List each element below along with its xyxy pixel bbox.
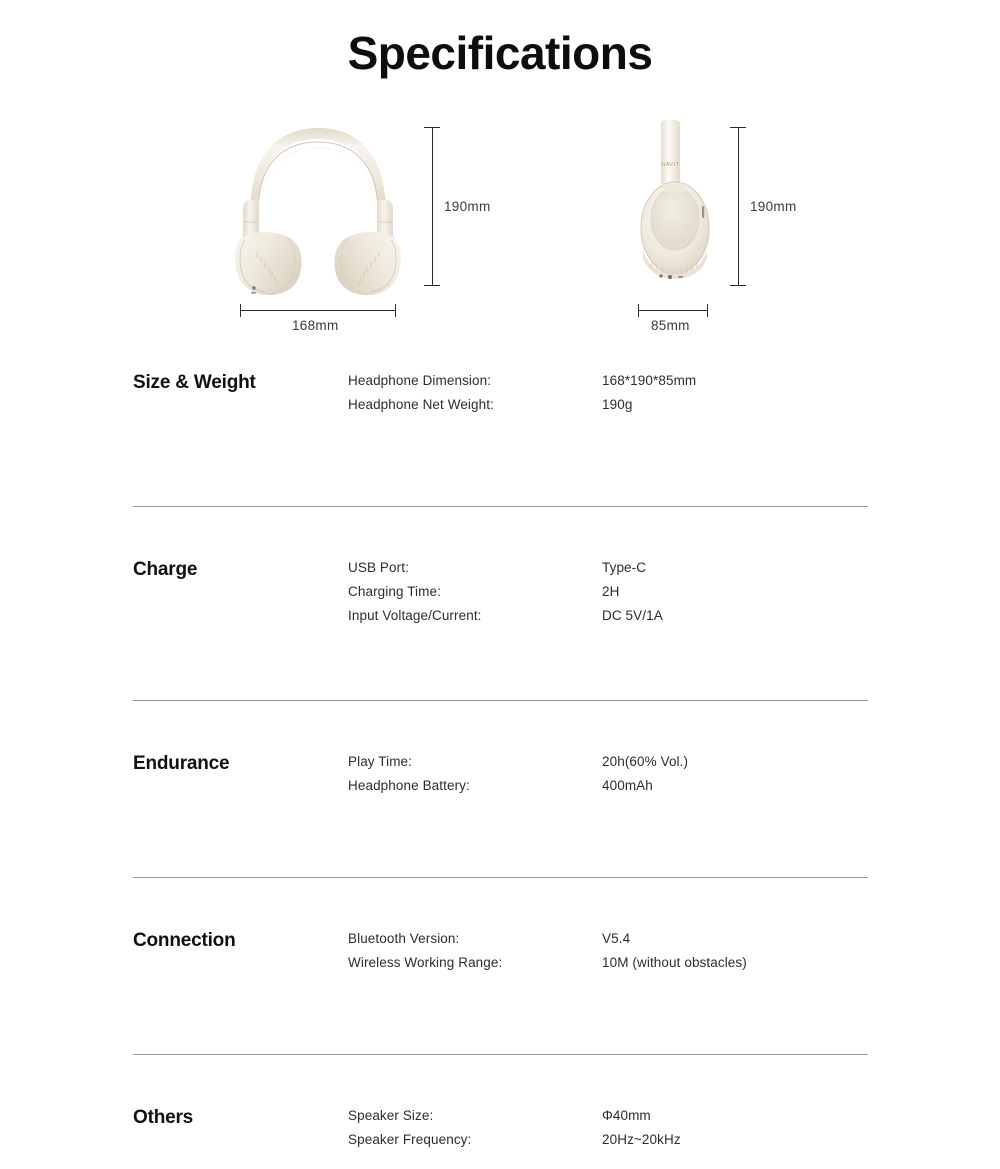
headphone-side-view-image: HAVIT xyxy=(630,118,722,298)
side-width-dim-line xyxy=(638,310,708,311)
spec-row: Headphone Battery:400mAh xyxy=(348,778,1000,802)
side-width-dim-cap-right xyxy=(707,304,708,317)
spec-row-group: Bluetooth Version:V5.4Wireless Working R… xyxy=(348,930,1000,979)
spec-section-heading: Connection xyxy=(133,930,236,952)
spec-row-key: Wireless Working Range: xyxy=(348,955,602,970)
spec-row: Speaker Frequency:20Hz~20kHz xyxy=(348,1132,1000,1156)
spec-row-key: Headphone Net Weight: xyxy=(348,397,602,412)
spec-section: ConnectionBluetooth Version:V5.4Wireless… xyxy=(0,930,1000,1107)
spec-row: Charging Time:2H xyxy=(348,584,1000,608)
spec-row-value: 20h(60% Vol.) xyxy=(602,754,688,769)
spec-row-key: Speaker Size: xyxy=(348,1108,602,1123)
spec-section-body: EndurancePlay Time:20h(60% Vol.)Headphon… xyxy=(0,753,1000,815)
spec-section: Size & WeightHeadphone Dimension:168*190… xyxy=(0,372,1000,559)
spec-row-value: DC 5V/1A xyxy=(602,608,663,623)
spec-row-value: 190g xyxy=(602,397,632,412)
spec-row: Input Voltage/Current:DC 5V/1A xyxy=(348,608,1000,632)
side-height-dim-line xyxy=(738,127,739,286)
spec-section: ChargeUSB Port:Type-CCharging Time:2HInp… xyxy=(0,559,1000,753)
spec-divider-spacer xyxy=(0,507,1000,559)
front-width-dim-label: 168mm xyxy=(292,318,339,333)
front-height-dim-line xyxy=(432,127,433,286)
spec-row-group: USB Port:Type-CCharging Time:2HInput Vol… xyxy=(348,559,1000,632)
spec-section-spacer xyxy=(0,434,1000,506)
spec-section-spacer xyxy=(0,992,1000,1054)
front-height-dim-label: 190mm xyxy=(444,199,491,214)
spec-row-key: Headphone Battery: xyxy=(348,778,602,793)
spec-row-value: 400mAh xyxy=(602,778,653,793)
spec-row-value: Φ40mm xyxy=(602,1108,651,1123)
spec-row-group: Play Time:20h(60% Vol.)Headphone Battery… xyxy=(348,753,1000,802)
spec-row: USB Port:Type-C xyxy=(348,560,1000,584)
spec-row: Wireless Working Range:10M (without obst… xyxy=(348,955,1000,979)
spec-row-key: Input Voltage/Current: xyxy=(348,608,602,623)
spec-row: Speaker Size:Φ40mm xyxy=(348,1108,1000,1132)
spec-row-key: Bluetooth Version: xyxy=(348,931,602,946)
spec-section: EndurancePlay Time:20h(60% Vol.)Headphon… xyxy=(0,753,1000,930)
spec-row: Bluetooth Version:V5.4 xyxy=(348,931,1000,955)
spec-row-value: 168*190*85mm xyxy=(602,373,696,388)
spec-section-body: Size & WeightHeadphone Dimension:168*190… xyxy=(0,372,1000,434)
specifications-table: Size & WeightHeadphone Dimension:168*190… xyxy=(0,372,1000,1169)
spec-row-group: Headphone Dimension:168*190*85mmHeadphon… xyxy=(348,372,1000,421)
spec-row: Headphone Net Weight:190g xyxy=(348,397,1000,421)
spec-row: Play Time:20h(60% Vol.) xyxy=(348,754,1000,778)
spec-row-value: 20Hz~20kHz xyxy=(602,1132,681,1147)
spec-row-key: Headphone Dimension: xyxy=(348,373,602,388)
spec-divider-spacer xyxy=(0,701,1000,753)
spec-row-key: USB Port: xyxy=(348,560,602,575)
spec-row-value: Type-C xyxy=(602,560,646,575)
spec-section-heading: Charge xyxy=(133,559,197,581)
spec-row-group: Speaker Size:Φ40mmSpeaker Frequency:20Hz… xyxy=(348,1107,1000,1156)
spec-row: Headphone Dimension:168*190*85mm xyxy=(348,373,1000,397)
product-diagram-area: HAVIT 190mm xyxy=(0,110,1000,350)
side-width-dim-label: 85mm xyxy=(651,318,690,333)
spec-row-key: Play Time: xyxy=(348,754,602,769)
spec-section-body: OthersSpeaker Size:Φ40mmSpeaker Frequenc… xyxy=(0,1107,1000,1169)
page-title: Specifications xyxy=(0,26,1000,80)
headphone-front-view-image xyxy=(232,118,404,298)
spec-row-value: V5.4 xyxy=(602,931,630,946)
spec-divider-spacer xyxy=(0,878,1000,930)
spec-row-key: Speaker Frequency: xyxy=(348,1132,602,1147)
spec-section-spacer xyxy=(0,632,1000,700)
side-height-dim-cap-bottom xyxy=(730,285,746,286)
spec-row-value: 2H xyxy=(602,584,619,599)
spec-section-heading: Endurance xyxy=(133,753,229,775)
spec-section-body: ConnectionBluetooth Version:V5.4Wireless… xyxy=(0,930,1000,992)
spec-section: OthersSpeaker Size:Φ40mmSpeaker Frequenc… xyxy=(0,1107,1000,1169)
front-height-dim-cap-bottom xyxy=(424,285,440,286)
front-width-dim-line xyxy=(240,310,396,311)
spec-row-value: 10M (without obstacles) xyxy=(602,955,747,970)
side-height-dim-label: 190mm xyxy=(750,199,797,214)
spec-section-heading: Size & Weight xyxy=(133,372,256,394)
spec-divider-spacer xyxy=(0,1055,1000,1107)
spec-section-spacer xyxy=(0,815,1000,877)
spec-row-key: Charging Time: xyxy=(348,584,602,599)
front-width-dim-cap-right xyxy=(395,304,396,317)
brand-logo-text: HAVIT xyxy=(661,162,680,168)
spec-section-heading: Others xyxy=(133,1107,193,1129)
spec-section-body: ChargeUSB Port:Type-CCharging Time:2HInp… xyxy=(0,559,1000,632)
